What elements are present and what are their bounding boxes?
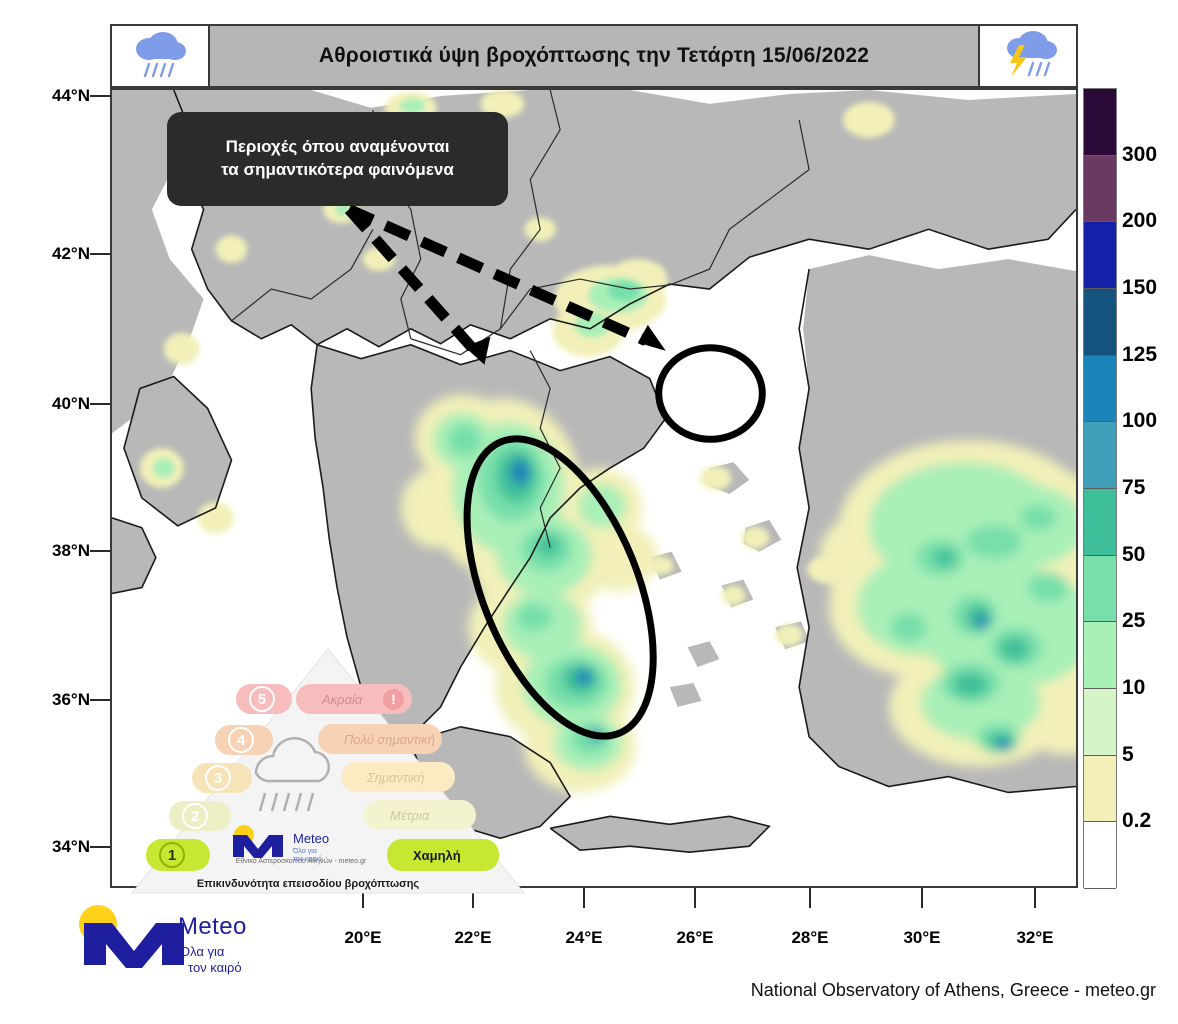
risk-badge-1: 1 [146,839,210,871]
ytick-mark-40n [90,403,110,405]
risk-badge-5-number: 5 [249,686,275,712]
risk-badge-2: 2 [169,801,231,831]
risk-badge-3: 3 [192,763,252,793]
brand-tagline-1: Όλα για [180,944,224,959]
risk-badge-4: 4 [215,725,273,755]
risk-badge-1-number: 1 [159,842,185,868]
xtick-mark-24e [583,888,585,908]
colorbar-label-300: 300 [1122,143,1157,167]
rain-cloud-icon-box [110,24,210,88]
map-title-banner: Αθροιστικά ύψη βροχόπτωσης την Τετάρτη 1… [110,24,1078,88]
risk-bar-4-label: Πολύ σημαντική [344,732,435,747]
xtick-label-28e: 28°E [791,928,828,948]
colorbar-label-125: 125 [1122,343,1157,367]
risk-bar-3-label: Σημαντική [367,770,425,785]
ytick-label-44n: 44°N [52,86,90,106]
colorbar-band-50-75 [1084,489,1116,556]
ytick-label-36n: 36°N [52,690,90,710]
ytick-mark-44n [90,95,110,97]
ytick-mark-34n [90,846,110,848]
risk-pyramid-legend: 5 4 3 2 1 Ακραία ! Πολύ σημαντική Σημαντ… [128,645,528,898]
xtick-label-24e: 24°E [565,928,602,948]
xtick-mark-32e [1034,888,1036,908]
brand-tagline-2: τον καιρό [188,960,242,975]
colorbar-label-100: 100 [1122,409,1157,433]
ytick-label-40n: 40°N [52,394,90,414]
ytick-label-42n: 42°N [52,244,90,264]
xtick-mark-26e [694,888,696,908]
colorbar-band-75-100 [1084,422,1116,489]
risk-bar-1: Χαμηλή [387,839,499,871]
svg-text:Meteo: Meteo [293,831,329,846]
xtick-mark-30e [921,888,923,908]
colorbar-label-150: 150 [1122,276,1157,300]
risk-bar-3: Σημαντική [341,762,455,792]
xtick-label-26e: 26°E [676,928,713,948]
risk-badge-3-number: 3 [205,765,231,791]
risk-bar-1-label: Χαμηλή [413,848,461,863]
ytick-mark-36n [90,699,110,701]
colorbar-label-0.2: 0.2 [1122,809,1151,833]
colorbar-label-5: 5 [1122,743,1134,767]
risk-bar-2-label: Μέτρια [390,808,429,823]
colorbar-band-125-150 [1084,289,1116,356]
brand-name: Meteo [178,913,247,941]
colorbar-label-25: 25 [1122,609,1145,633]
risk-badge-2-number: 2 [182,803,208,829]
risk-legend-caption: Επικινδυνότητα επεισοδίου βροχόπτωσης [184,878,432,890]
attribution-text: National Observatory of Athens, Greece -… [751,980,1156,1001]
pyramid-logo-subtitle: Εθνικό Αστεροσκοπείο Αθηνών - meteo.gr [216,858,386,865]
colorbar-band-25-50 [1084,556,1116,623]
svg-text:Όλα για: Όλα για [292,848,317,855]
xtick-label-32e: 32°E [1016,928,1053,948]
colorbar-label-75: 75 [1122,476,1145,500]
thunderstorm-cloud-icon-box [978,24,1078,88]
colorbar-band-100-125 [1084,356,1116,423]
precipitation-colorbar[interactable] [1083,88,1117,888]
colorbar-band-<0.2 [1084,822,1116,889]
thunderstorm-cloud-icon [993,31,1063,81]
annotation-callout: Περιοχές όπου αναμένονται τα σημαντικότε… [167,112,508,206]
annotation-line-2: τα σημαντικότερα φαινόμενα [221,159,454,182]
page-title: Αθροιστικά ύψη βροχόπτωσης την Τετάρτη 1… [319,44,869,68]
risk-bar-2: Μέτρια [364,800,476,830]
ytick-mark-38n [90,550,110,552]
ytick-label-34n: 34°N [52,837,90,857]
xtick-label-20e: 20°E [344,928,381,948]
colorbar-band-150-200 [1084,222,1116,289]
colorbar-label-50: 50 [1122,543,1145,567]
risk-bar-5: Ακραία ! [296,684,412,714]
risk-badge-5: 5 [236,684,292,714]
colorbar-band->300 [1084,89,1116,156]
colorbar-label-10: 10 [1122,676,1145,700]
annotation-line-1: Περιοχές όπου αναμένονται [226,136,450,159]
precipitation-map-figure: Αθροιστικά ύψη βροχόπτωσης την Τετάρτη 1… [0,0,1178,1024]
xtick-label-30e: 30°E [903,928,940,948]
colorbar-band-5-10 [1084,689,1116,756]
xtick-label-22e: 22°E [454,928,491,948]
ytick-mark-42n [90,253,110,255]
risk-bar-4: Πολύ σημαντική [318,724,442,754]
rain-cloud-icon [125,31,195,81]
risk-bar-5-label: Ακραία [322,692,362,707]
colorbar-band-0.2-5 [1084,756,1116,823]
meteo-brand-logo [72,903,282,981]
warning-icon: ! [383,689,404,710]
ytick-label-38n: 38°N [52,541,90,561]
colorbar-label-200: 200 [1122,209,1157,233]
colorbar-band-10-25 [1084,622,1116,689]
risk-badge-4-number: 4 [228,727,254,753]
colorbar-band-200-300 [1084,156,1116,223]
xtick-mark-28e [809,888,811,908]
